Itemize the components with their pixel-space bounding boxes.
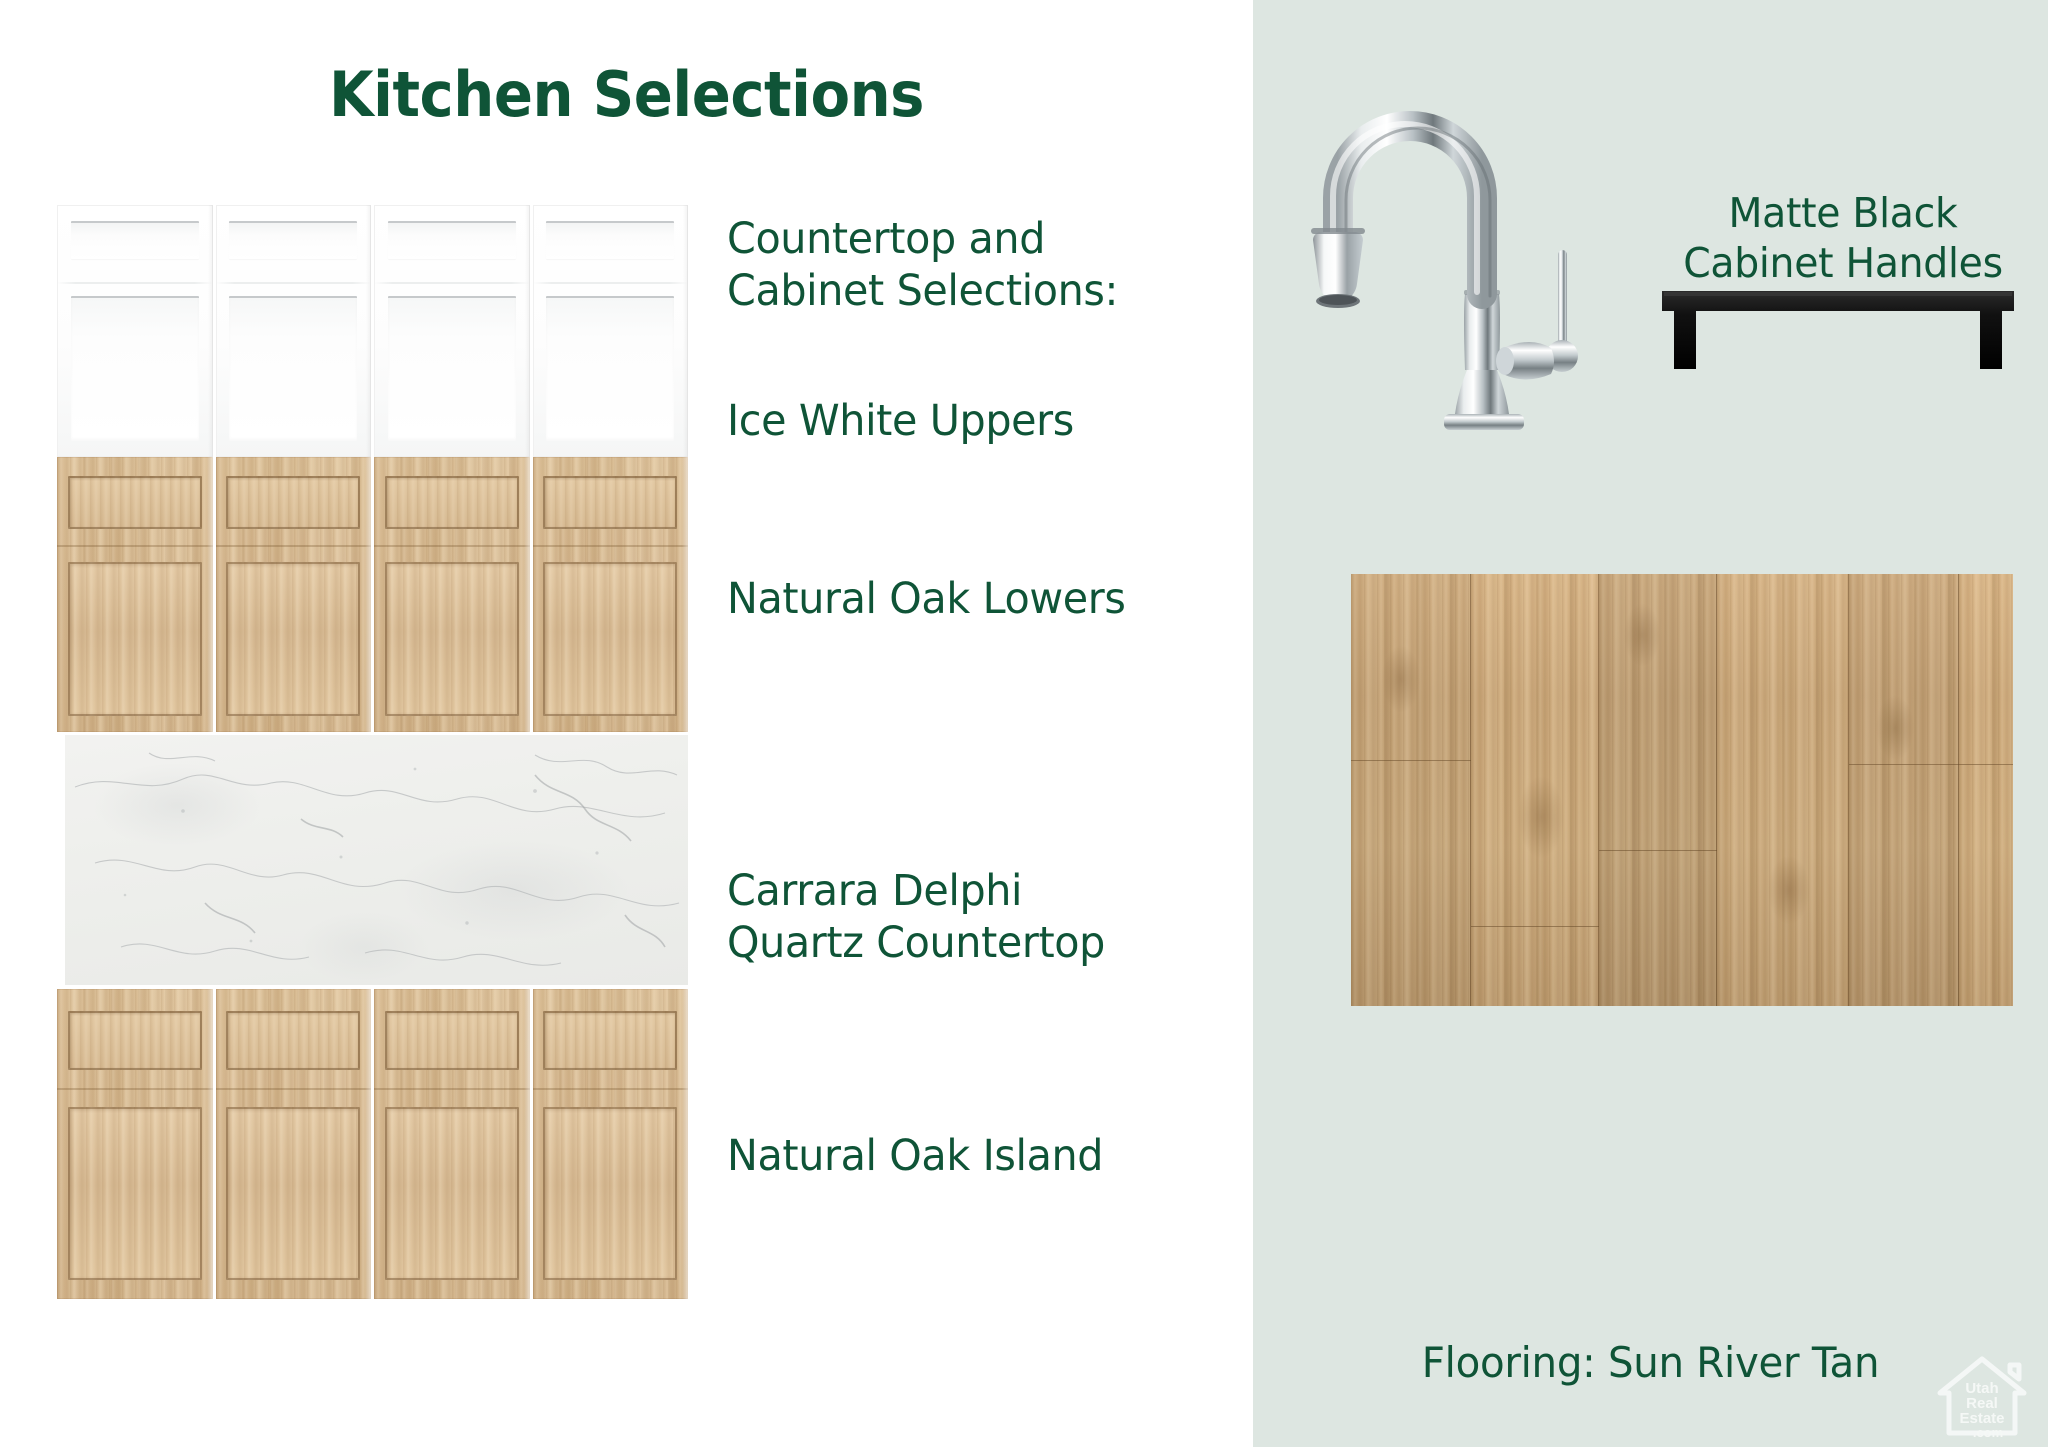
door-rail: [533, 1088, 689, 1090]
door-main-panel: [543, 562, 677, 716]
oak-cabinet-door: [216, 989, 372, 1299]
door-main-panel: [543, 1107, 677, 1281]
label-carrara-delphi-quartz-countertop: Carrara Delphi Quartz Countertop: [727, 865, 1105, 970]
door-main-panel: [385, 562, 519, 716]
door-rail: [374, 282, 530, 284]
kitchen-selections-board: Kitchen Selections: [0, 0, 2048, 1447]
left-panel: Kitchen Selections: [0, 0, 1253, 1447]
flooring-sample-image: [1351, 574, 2013, 1006]
swatch-ice-white-uppers: [57, 205, 688, 457]
door-rail: [533, 282, 689, 284]
matte-black-handle-image: [1648, 275, 2028, 385]
door-rail: [533, 545, 689, 547]
door-main-panel: [71, 296, 199, 441]
door-rail: [374, 545, 530, 547]
chrome-faucet-image: [1265, 18, 1605, 448]
swatch-natural-oak-island: [57, 989, 688, 1299]
label-natural-oak-island: Natural Oak Island: [727, 1130, 1103, 1182]
door-rail: [57, 282, 213, 284]
door-main-panel: [546, 296, 674, 441]
door-drawer-panel: [543, 476, 677, 528]
door-drawer-panel: [226, 476, 360, 528]
door-drawer-panel: [385, 476, 519, 528]
utahrealestate-watermark: Utah Real Estate .com: [1928, 1349, 2036, 1441]
door-drawer-panel: [543, 1011, 677, 1070]
white-cabinet-door: [533, 205, 689, 457]
door-main-panel: [226, 562, 360, 716]
white-cabinet-door: [216, 205, 372, 457]
door-drawer-panel: [385, 1011, 519, 1070]
label-countertop-cabinet-heading: Countertop and Cabinet Selections:: [727, 213, 1118, 318]
white-cabinet-door: [57, 205, 213, 457]
label-matte-black-cabinet-handles: Matte Black Cabinet Handles: [1651, 188, 2035, 288]
door-drawer-panel: [68, 1011, 202, 1070]
door-main-panel: [388, 296, 516, 441]
door-rail: [57, 1088, 213, 1090]
oak-cabinet-door: [374, 989, 530, 1299]
door-main-panel: [226, 1107, 360, 1281]
white-cabinet-door: [374, 205, 530, 457]
door-drawer-panel: [229, 221, 357, 259]
door-rail: [216, 282, 372, 284]
door-drawer-panel: [71, 221, 199, 259]
door-main-panel: [68, 1107, 202, 1281]
oak-cabinet-door: [374, 457, 530, 732]
label-flooring-sun-river-tan: Flooring: Sun River Tan: [1269, 1337, 2032, 1388]
oak-cabinet-door: [533, 989, 689, 1299]
swatch-natural-oak-lowers: [57, 457, 688, 732]
right-panel: Matte Black Cabinet Handles Chrome High-…: [1253, 0, 2048, 1447]
door-main-panel: [68, 562, 202, 716]
door-main-panel: [229, 296, 357, 441]
door-rail: [374, 1088, 530, 1090]
door-rail: [57, 545, 213, 547]
swatch-carrara-delphi-quartz: [65, 735, 688, 985]
oak-cabinet-door: [57, 989, 213, 1299]
oak-cabinet-door: [533, 457, 689, 732]
label-ice-white-uppers: Ice White Uppers: [727, 395, 1074, 447]
watermark-line-4: .com: [1973, 1425, 2003, 1440]
oak-cabinet-door: [57, 457, 213, 732]
door-drawer-panel: [68, 476, 202, 528]
door-drawer-panel: [546, 221, 674, 259]
label-natural-oak-lowers: Natural Oak Lowers: [727, 573, 1125, 625]
door-drawer-panel: [226, 1011, 360, 1070]
door-main-panel: [385, 1107, 519, 1281]
page-title: Kitchen Selections: [44, 58, 1209, 131]
door-rail: [216, 1088, 372, 1090]
door-rail: [216, 545, 372, 547]
door-drawer-panel: [388, 221, 516, 259]
oak-cabinet-door: [216, 457, 372, 732]
